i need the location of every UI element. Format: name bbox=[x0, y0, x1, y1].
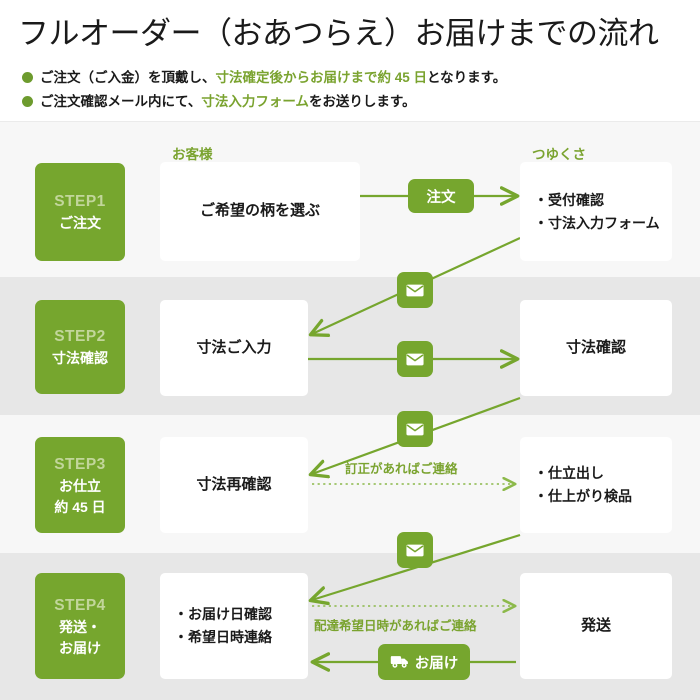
step-2-name: 寸法確認 bbox=[52, 348, 108, 368]
step-1-name: ご注文 bbox=[59, 213, 101, 233]
badge-delivery-label: お届け bbox=[415, 652, 459, 673]
badge-delivery: お届け bbox=[378, 644, 470, 680]
column-label-customer: お客様 bbox=[172, 143, 213, 163]
envelope-chip-2 bbox=[397, 341, 433, 377]
card-step1-shop: ・受付確認・寸法入力フォーム bbox=[520, 162, 672, 261]
envelope-icon bbox=[406, 423, 424, 436]
truck-icon bbox=[390, 655, 409, 669]
card-step2-shop-text: 寸法確認 bbox=[566, 337, 626, 360]
step-2-number: STEP2 bbox=[54, 325, 106, 348]
step-4-name: 発送・お届け bbox=[59, 617, 101, 658]
envelope-chip-4 bbox=[397, 532, 433, 568]
card-step2-customer: 寸法ご入力 bbox=[160, 300, 308, 396]
card-step3-shop: ・仕立出し・仕上がり検品 bbox=[520, 437, 672, 533]
card-step4-shop-text: 発送 bbox=[581, 615, 611, 638]
envelope-chip-3 bbox=[397, 411, 433, 447]
card-step1-customer-text: ご希望の柄を選ぶ bbox=[200, 200, 320, 223]
column-label-shop: つゆくさ bbox=[532, 143, 586, 163]
envelope-icon bbox=[406, 284, 424, 297]
envelope-icon bbox=[406, 353, 424, 366]
envelope-icon bbox=[406, 544, 424, 557]
step-chip-3: STEP3 お仕立約 45 日 bbox=[35, 437, 125, 533]
badge-order: 注文 bbox=[408, 179, 474, 213]
arrow-label-step4: 配達希望日時があればご連絡 bbox=[314, 615, 477, 634]
card-step1-shop-text: ・受付確認・寸法入力フォーム bbox=[534, 189, 660, 234]
card-step2-shop: 寸法確認 bbox=[520, 300, 672, 396]
step-1-number: STEP1 bbox=[54, 190, 106, 213]
card-step3-customer: 寸法再確認 bbox=[160, 437, 308, 533]
card-step3-shop-text: ・仕立出し・仕上がり検品 bbox=[534, 462, 632, 507]
envelope-chip-1 bbox=[397, 272, 433, 308]
card-step2-customer-text: 寸法ご入力 bbox=[196, 337, 271, 360]
badge-order-label: 注文 bbox=[427, 186, 456, 207]
step-chip-4: STEP4 発送・お届け bbox=[35, 573, 125, 679]
step-3-number: STEP3 bbox=[54, 453, 106, 476]
card-step4-shop: 発送 bbox=[520, 573, 672, 679]
step-3-name: お仕立約 45 日 bbox=[54, 476, 105, 517]
step-4-number: STEP4 bbox=[54, 594, 106, 617]
step-chip-1: STEP1 ご注文 bbox=[35, 163, 125, 261]
card-step3-customer-text: 寸法再確認 bbox=[196, 474, 271, 497]
card-step4-customer: ・お届け日確認・希望日時連絡 bbox=[160, 573, 308, 679]
arrow-label-step3: 訂正があればご連絡 bbox=[345, 458, 458, 477]
card-step4-customer-text: ・お届け日確認・希望日時連絡 bbox=[174, 603, 272, 648]
card-step1-customer: ご希望の柄を選ぶ bbox=[160, 162, 360, 261]
step-chip-2: STEP2 寸法確認 bbox=[35, 300, 125, 394]
